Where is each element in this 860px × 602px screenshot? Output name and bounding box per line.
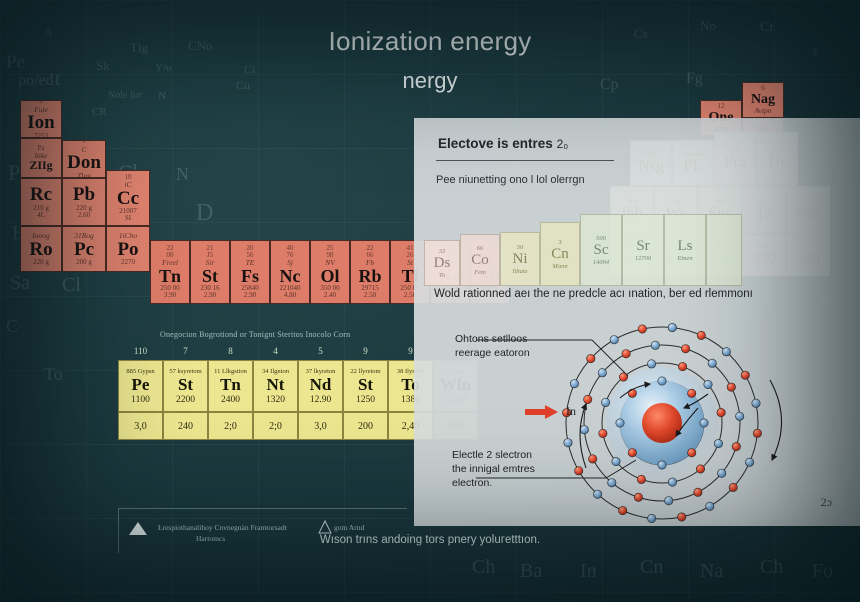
infographic-canvas: PeApo/edℓSkPekȿPoCbNTlgCNoY/uCiCuNole fo… bbox=[0, 0, 860, 602]
vignette-overlay bbox=[0, 0, 860, 602]
